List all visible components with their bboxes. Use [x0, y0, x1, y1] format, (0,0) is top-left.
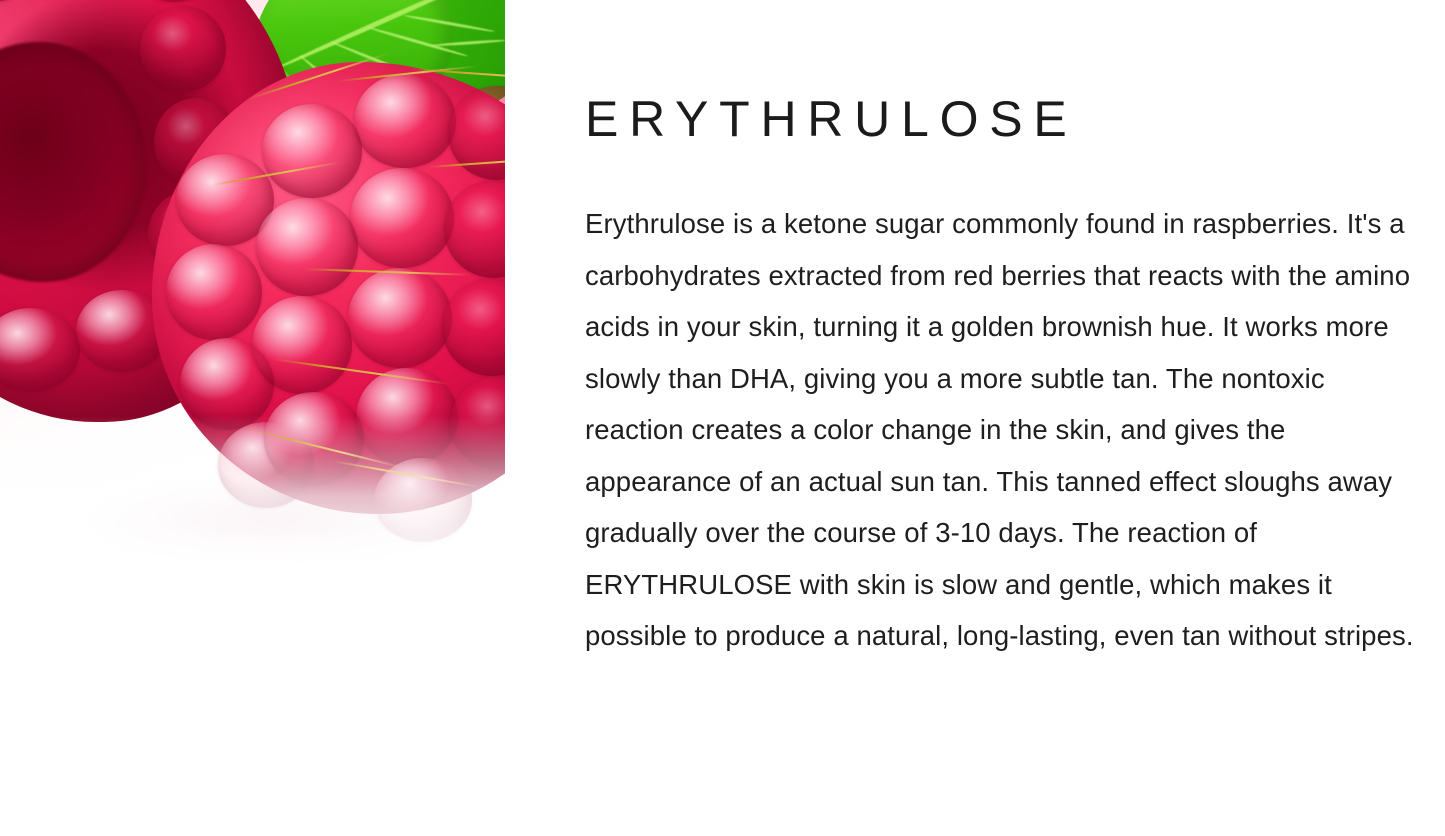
drupelet	[444, 180, 505, 278]
drupelet	[140, 6, 226, 92]
drupelet	[262, 104, 362, 198]
drupelet	[166, 244, 262, 340]
body-paragraph: Erythrulose is a ketone sugar commonly f…	[585, 198, 1421, 662]
drupelet	[256, 198, 358, 296]
drupelet	[354, 74, 456, 168]
photo-stage	[0, 0, 505, 606]
photo-bottom-fade	[0, 416, 505, 606]
drupelet	[128, 0, 220, 2]
raspberries-photo	[0, 0, 505, 606]
drupelet	[252, 296, 352, 394]
raspberry-left-core	[0, 42, 146, 282]
page-title: ERYTHRULOSE	[585, 94, 1077, 144]
drupelet	[348, 268, 452, 368]
drupelet	[0, 308, 80, 392]
text-column: ERYTHRULOSE Erythrulose is a ketone suga…	[585, 0, 1425, 836]
drupelet	[350, 168, 454, 268]
drupelet	[0, 0, 40, 2]
slide-root: ERYTHRULOSE Erythrulose is a ketone suga…	[0, 0, 1445, 836]
drupelet	[442, 278, 505, 376]
